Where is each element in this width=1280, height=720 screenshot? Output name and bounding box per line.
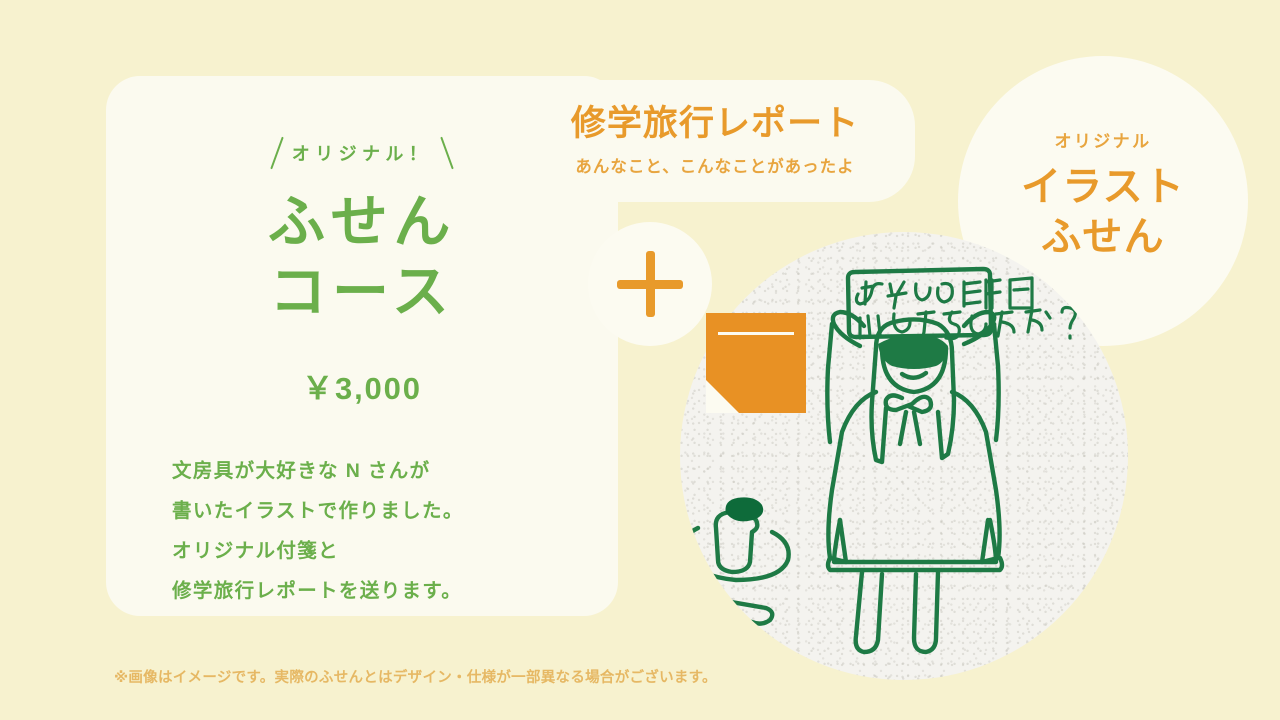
illustration-original-badge: オリジナル xyxy=(1055,127,1152,152)
original-badge-label: オリジナル！ xyxy=(292,140,432,166)
sticky-note-fold-corner xyxy=(706,380,739,413)
pudding-caramel xyxy=(728,500,761,520)
original-badge: オリジナル！ xyxy=(276,136,448,170)
report-subtitle: あんなこと、こんなことがあったよ xyxy=(575,153,854,177)
sign-handwriting xyxy=(856,278,1032,308)
course-title: ふせん コース xyxy=(268,188,456,327)
report-title: 修学旅行レポート xyxy=(571,105,859,144)
promo-slide: オリジナル！ ふせん コース ￥3,000 文房具が大好きな N さんが 書いた… xyxy=(0,0,1280,720)
orange-sticky-note xyxy=(706,313,806,413)
product-description: 文房具が大好きな N さんが 書いたイラストで作りました。 オリジナル付箋と 修… xyxy=(106,452,618,612)
slash-left-icon xyxy=(270,137,284,170)
girl-eye-left xyxy=(895,356,902,363)
report-bubble: 修学旅行レポート あんなこと、こんなことがあったよ xyxy=(515,80,915,202)
description-line: 修学旅行レポートを送ります。 xyxy=(172,572,618,612)
girl-leg-left xyxy=(856,572,882,652)
course-title-line1: ふせん xyxy=(268,188,456,258)
slash-right-icon xyxy=(440,137,454,170)
illustration-paper-circle xyxy=(680,232,1128,680)
pudding xyxy=(716,512,758,572)
ribbon-tails xyxy=(900,412,920,444)
spoon xyxy=(689,588,772,624)
girl-hair xyxy=(878,334,948,369)
illustration-title-line1: イラスト xyxy=(1021,162,1185,212)
sticky-note-line xyxy=(718,332,794,335)
price-label: ￥3,000 xyxy=(302,363,422,408)
hand-drawn-illustration xyxy=(680,232,1128,680)
girl-mouth xyxy=(902,373,926,378)
girl-leg-right xyxy=(914,572,938,652)
description-line: 文房具が大好きな N さんが xyxy=(172,452,618,492)
girl-eye-right xyxy=(925,356,932,363)
description-line: オリジナル付箋と xyxy=(172,532,618,572)
course-title-line2: コース xyxy=(268,258,456,328)
footnote: ※画像はイメージです。実際のふせんとはデザイン・仕様が一部異なる場合がございます… xyxy=(114,666,717,687)
girl-ribbon xyxy=(886,395,931,412)
description-line: 書いたイラストで作りました。 xyxy=(172,492,618,532)
plus-icon-vertical xyxy=(646,251,655,317)
